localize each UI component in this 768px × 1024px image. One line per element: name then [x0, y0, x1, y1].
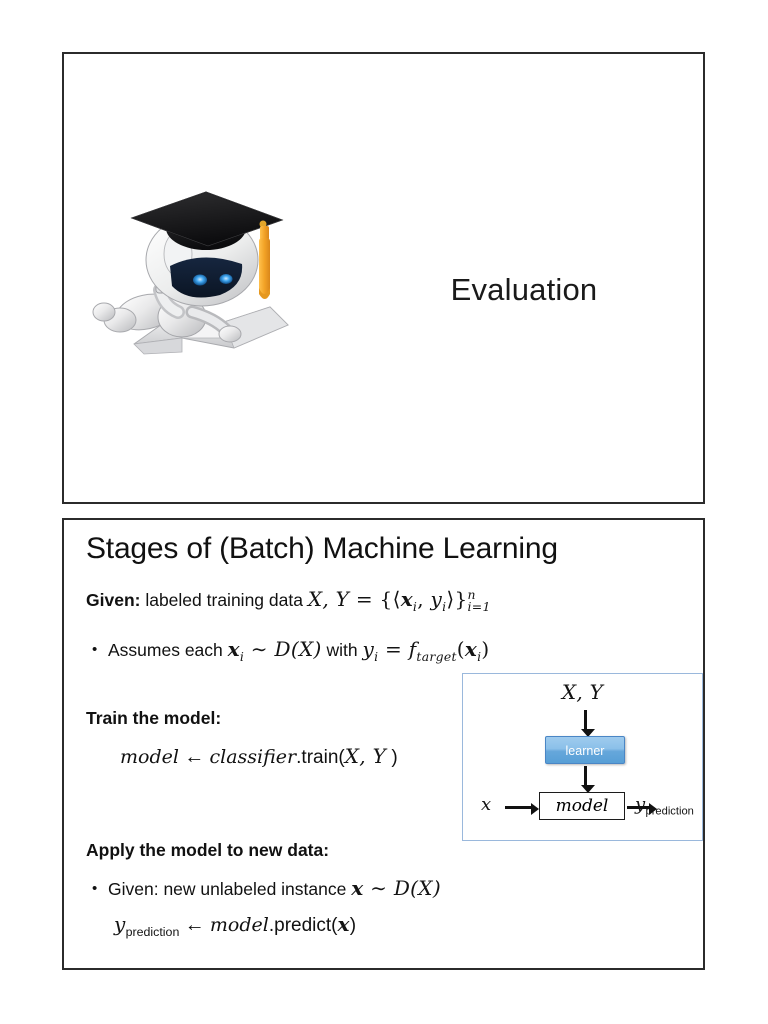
bullet-icon: • [92, 880, 108, 897]
slide-stages-of-machine-learning: Stages of (Batch) Machine Learning Given… [62, 518, 705, 970]
given-math-limits: ni=1 [468, 589, 491, 613]
arrow-down-icon [584, 710, 587, 730]
predict-close: ) [350, 915, 356, 936]
arrow-right-icon [505, 806, 531, 809]
apply-tilde: ∼ [363, 876, 393, 900]
given-math-x: x [401, 587, 413, 611]
given-math-comma: , [417, 587, 430, 611]
train-close: ) [386, 747, 398, 768]
pipeline-output-sub: prediction [645, 806, 693, 818]
given-math-set-open: {⟨ [380, 587, 401, 611]
pipeline-instance-label: x [481, 794, 491, 815]
apply-dist: D [394, 876, 410, 900]
predict-model-word: model [210, 914, 269, 936]
learning-pipeline-diagram: X, Y learner x model yprediction [462, 673, 703, 841]
arrow-down-icon [584, 766, 587, 786]
bullet-icon: • [92, 641, 108, 658]
train-model-word: model [120, 746, 179, 768]
robot-graduate-illustration [74, 162, 304, 382]
apply-label: Apply the model to new data: [86, 840, 329, 861]
apply-text-1: Given: new unlabeled instance [108, 879, 351, 899]
predict-y-sub: prediction [126, 925, 180, 939]
pipeline-output-sym: y [635, 794, 645, 815]
apply-dist-arg: (X) [410, 876, 441, 900]
predict-method: .predict( [269, 915, 338, 936]
assumes-f-open: ( [457, 637, 465, 661]
given-label: Given: [86, 590, 140, 610]
predict-arg: x [338, 912, 350, 936]
given-math-lhs: X, Y [308, 587, 349, 611]
pipeline-input-label: X, Y [463, 680, 702, 704]
train-classifier-word: classifier [210, 746, 297, 768]
assumes-y: y [362, 637, 374, 661]
assumes-dist-arg: (X) [291, 637, 322, 661]
given-math-sub: i=1 [468, 601, 491, 613]
predict-y: y [114, 912, 126, 936]
model-box[interactable]: model [539, 792, 625, 820]
bullet-apply: •Given: new unlabeled instance x ∼ D(X) [92, 876, 441, 900]
assumes-text-2: with [322, 640, 363, 660]
train-expression: model ← classifier.train(X, Y ) [120, 744, 398, 769]
assumes-dist: D [275, 637, 291, 661]
apply-x: x [351, 876, 363, 900]
given-math-y: y [431, 587, 443, 611]
slide-heading: Stages of (Batch) Machine Learning [86, 532, 558, 566]
assumes-eq: = [378, 637, 408, 661]
pipeline-output-label: yprediction [635, 794, 694, 818]
slide-title: Evaluation [62, 52, 705, 504]
assumes-tilde: ∼ [244, 637, 274, 661]
train-method: .train( [296, 747, 345, 768]
assumes-x: x [228, 637, 240, 661]
assumes-f-sub: target [416, 649, 456, 664]
page-title: Evaluation [364, 272, 684, 308]
assumes-text-1: Assumes each [108, 640, 228, 660]
given-math-set-close: ⟩} [446, 587, 467, 611]
assignment-arrow-icon: ← [184, 746, 204, 768]
tassel [259, 226, 270, 299]
bullet-assumes: •Assumes each xi ∼ D(X) with yi = ftarge… [92, 637, 489, 664]
assignment-arrow-icon: ← [185, 914, 205, 936]
train-label: Train the model: [86, 708, 221, 729]
assumes-f-close: ) [481, 637, 489, 661]
train-args: X, Y [345, 744, 386, 768]
given-text: labeled training data [140, 590, 307, 610]
given-line: Given: labeled training data X, Y = {⟨xi… [86, 587, 491, 614]
given-math-eq: = [349, 587, 379, 611]
learner-box[interactable]: learner [545, 736, 625, 764]
assumes-f-arg: x [465, 637, 477, 661]
predict-expression: yprediction ← model.predict(x) [114, 912, 356, 939]
